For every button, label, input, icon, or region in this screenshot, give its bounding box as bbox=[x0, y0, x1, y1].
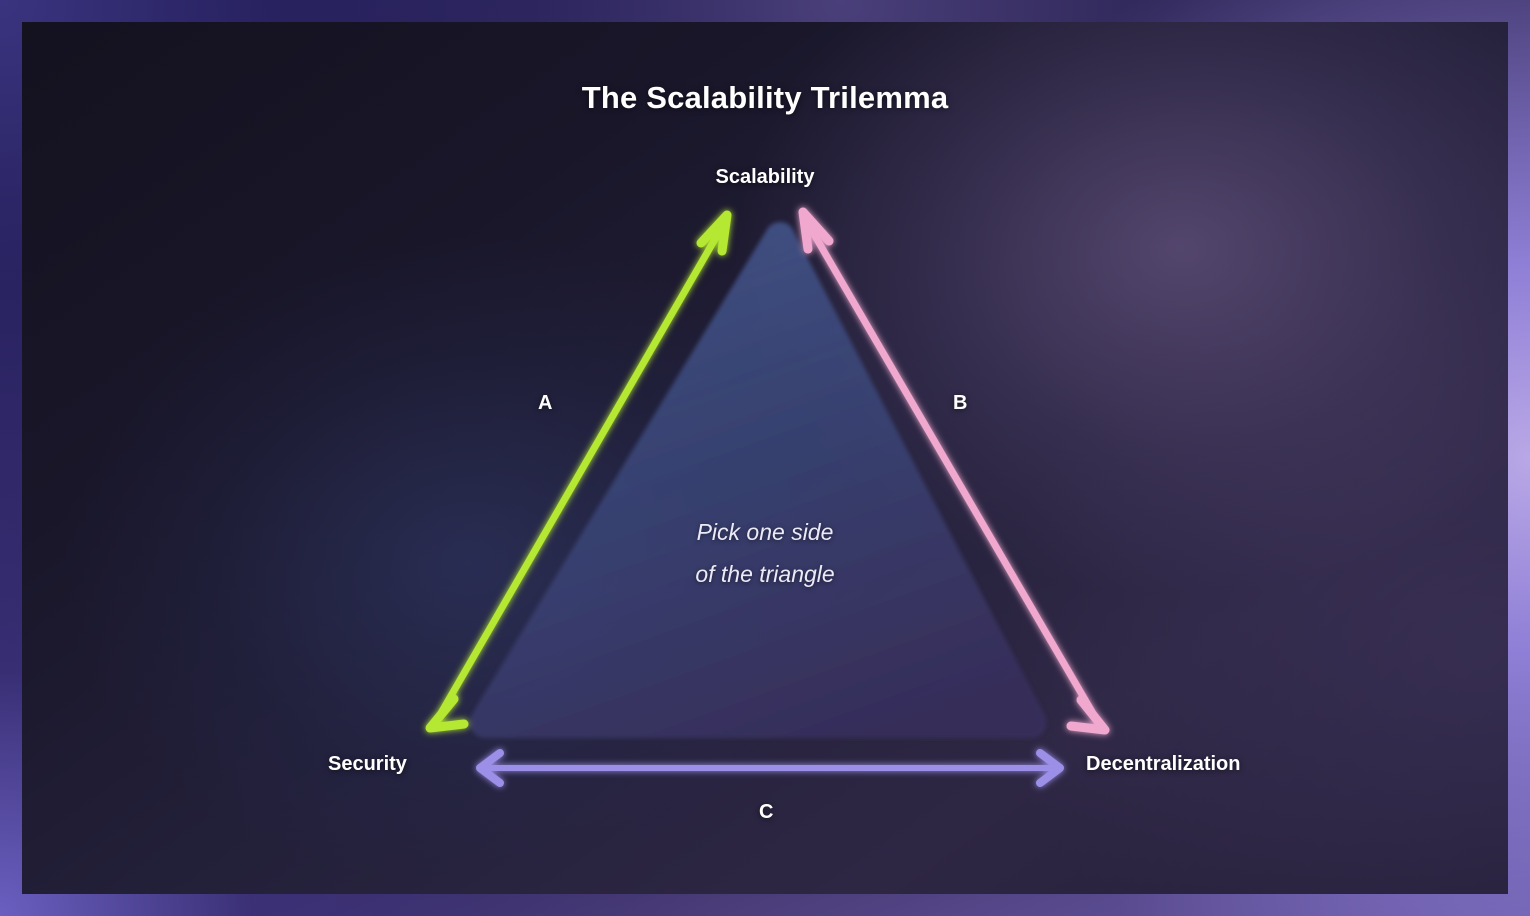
side-c-arrow bbox=[480, 753, 1060, 783]
vertex-label-security: Security bbox=[328, 753, 407, 776]
slide-frame: The Scalability Trilemma Scalability Sec… bbox=[0, 0, 1530, 916]
side-letter-c: C bbox=[759, 801, 773, 824]
center-note-line-1: Pick one side bbox=[22, 511, 1508, 553]
page-title: The Scalability Trilemma bbox=[22, 80, 1508, 116]
vertex-label-decentralization: Decentralization bbox=[1086, 753, 1240, 776]
side-letter-b: B bbox=[953, 392, 967, 415]
trilemma-diagram bbox=[22, 22, 1508, 894]
center-note: Pick one side of the triangle bbox=[22, 511, 1508, 595]
slide-canvas: The Scalability Trilemma Scalability Sec… bbox=[22, 22, 1508, 894]
vertex-label-scalability: Scalability bbox=[22, 166, 1508, 189]
side-letter-a: A bbox=[538, 392, 552, 415]
center-note-line-2: of the triangle bbox=[22, 553, 1508, 595]
